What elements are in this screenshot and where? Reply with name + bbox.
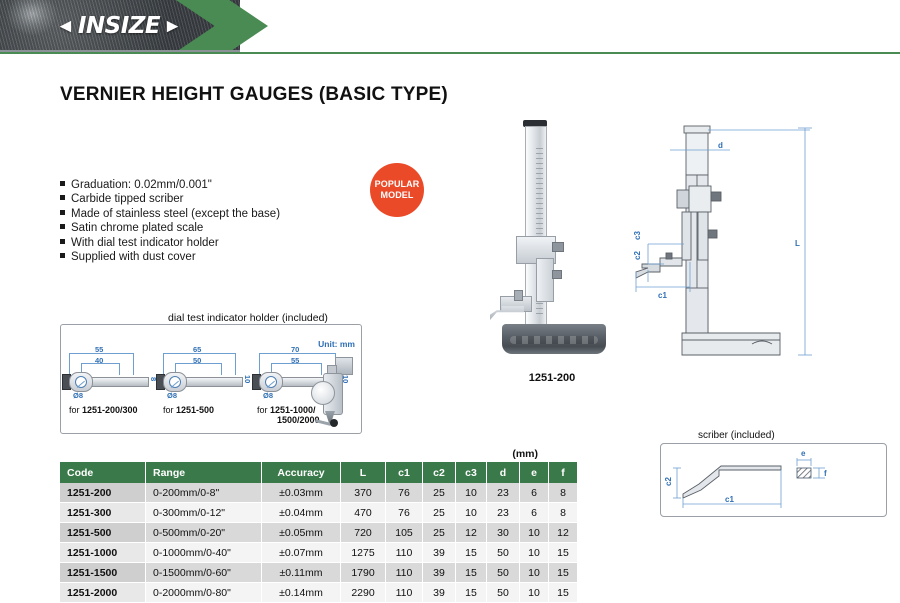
holder-variant-1: 55 40 Ø8 8 — [67, 351, 159, 401]
cell-l: 370 — [341, 483, 386, 503]
scriber-panel-caption: scriber (included) — [698, 430, 775, 441]
cell-range: 0-2000mm/0-80" — [146, 583, 262, 603]
cell-e: 6 — [520, 483, 549, 503]
cell-l: 2290 — [341, 583, 386, 603]
cell-accuracy: ±0.07mm — [262, 543, 341, 563]
cell-d: 23 — [487, 483, 520, 503]
list-item: With dial test indicator holder — [60, 236, 350, 250]
cell-l: 470 — [341, 503, 386, 523]
bullet-square-icon — [60, 239, 65, 244]
cell-c2: 25 — [423, 503, 456, 523]
logo-right-arrow-icon: ► — [163, 17, 182, 36]
column-header-d: d — [487, 462, 520, 483]
cell-c2: 39 — [423, 563, 456, 583]
table-row: 1251-1000 0-1000mm/0-40" ±0.07mm 1275 11… — [60, 543, 577, 563]
cell-c3: 15 — [456, 543, 487, 563]
holder-panel: Unit: mm 55 40 Ø8 8 for 1251-200/300 65 … — [60, 324, 362, 434]
cell-accuracy: ±0.11mm — [262, 563, 341, 583]
fine-adjust-knob — [552, 242, 564, 252]
vernier-scale — [536, 258, 554, 302]
holder-outer-dim: 55 — [95, 345, 103, 354]
dim-label-c1: c1 — [658, 291, 667, 300]
cell-e: 10 — [520, 563, 549, 583]
feature-text: With dial test indicator holder — [71, 237, 219, 249]
brand-logo: ◄ INSIZE ► — [44, 13, 194, 39]
cell-c1: 110 — [386, 563, 423, 583]
brand-name: INSIZE — [78, 13, 160, 39]
cell-f: 8 — [549, 503, 578, 523]
holder-variant-2-label: for 1251-500 — [163, 405, 214, 415]
list-item: Supplied with dust cover — [60, 250, 350, 264]
cell-code: 1251-500 — [60, 523, 146, 543]
cell-range: 0-1500mm/0-60" — [146, 563, 262, 583]
table-row: 1251-300 0-300mm/0-12" ±0.04mm 470 76 25… — [60, 503, 577, 523]
cell-c2: 25 — [423, 523, 456, 543]
line-drawing-svg: d L c1 c2 c3 — [620, 112, 890, 360]
table-header-row: Code Range Accuracy L c1 c2 c3 d e f — [60, 462, 577, 483]
cell-f: 8 — [549, 483, 578, 503]
for-codes: 1251-200/300 — [82, 405, 138, 415]
holder-assembly-photo — [313, 355, 353, 427]
dim-label-L: L — [795, 239, 800, 248]
scriber-panel: c2 c1 e f — [660, 443, 887, 517]
holder-bore-dim: Ø8 — [263, 391, 273, 400]
holder-photo-knob — [330, 419, 338, 427]
table-row: 1251-2000 0-2000mm/0-80" ±0.14mm 2290 11… — [60, 583, 577, 603]
cell-range: 0-300mm/0-12" — [146, 503, 262, 523]
cell-f: 15 — [549, 543, 578, 563]
product-photo — [492, 118, 612, 353]
scriber-dim-e: e — [801, 449, 806, 458]
logo-left-arrow-icon: ◄ — [56, 17, 75, 36]
cell-code: 1251-1000 — [60, 543, 146, 563]
holder-outer-dim: 70 — [291, 345, 299, 354]
cell-code: 1251-2000 — [60, 583, 146, 603]
dim-label-d: d — [718, 141, 723, 150]
cell-f: 12 — [549, 523, 578, 543]
column-header-accuracy: Accuracy — [262, 462, 341, 483]
bullet-square-icon — [60, 195, 65, 200]
cast-base — [502, 324, 606, 354]
holder-bore-dim: Ø8 — [73, 391, 83, 400]
list-item: Made of stainless steel (except the base… — [60, 207, 350, 221]
cell-l: 1275 — [341, 543, 386, 563]
column-header-c1: c1 — [386, 462, 423, 483]
popular-model-badge: POPULAR MODEL — [370, 163, 424, 217]
for-codes: 1251-1000/ — [270, 405, 316, 415]
cell-d: 50 — [487, 583, 520, 603]
page-title: VERNIER HEIGHT GAUGES (BASIC TYPE) — [60, 84, 448, 106]
column-header-range: Range — [146, 462, 262, 483]
cell-c2: 39 — [423, 543, 456, 563]
scriber-clamp-knob — [514, 290, 523, 301]
scriber-dim-c2: c2 — [664, 477, 673, 486]
specification-table: Code Range Accuracy L c1 c2 c3 d e f 125… — [60, 462, 577, 603]
scriber-dim-c1: c1 — [725, 495, 734, 504]
dim-label-c2: c2 — [633, 251, 642, 260]
bullet-square-icon — [60, 253, 65, 258]
clamp-screw — [552, 270, 562, 279]
page-header: ◄ INSIZE ► — [0, 0, 900, 56]
holder-inner-dim: 40 — [95, 356, 103, 365]
cell-e: 10 — [520, 523, 549, 543]
holder-variant-3-label: for 1251-1000/ 1500/2000 — [257, 405, 320, 425]
cell-code: 1251-300 — [60, 503, 146, 523]
column-header-f: f — [549, 462, 578, 483]
cell-range: 0-200mm/0-8" — [146, 483, 262, 503]
cell-c3: 15 — [456, 563, 487, 583]
cell-d: 23 — [487, 503, 520, 523]
list-item: Satin chrome plated scale — [60, 221, 350, 235]
cell-f: 15 — [549, 583, 578, 603]
for-prefix: for — [163, 405, 176, 415]
cell-d: 50 — [487, 563, 520, 583]
cell-c3: 15 — [456, 583, 487, 603]
column-header-l: L — [341, 462, 386, 483]
bullet-square-icon — [60, 210, 65, 215]
cell-accuracy: ±0.03mm — [262, 483, 341, 503]
cell-accuracy: ±0.14mm — [262, 583, 341, 603]
cell-e: 10 — [520, 543, 549, 563]
holder-variant-1-label: for 1251-200/300 — [69, 405, 138, 415]
column-header-e: e — [520, 462, 549, 483]
feature-list: Graduation: 0.02mm/0.001" Carbide tipped… — [60, 178, 350, 264]
bullet-square-icon — [60, 181, 65, 186]
table-row: 1251-500 0-500mm/0-20" ±0.05mm 720 105 2… — [60, 523, 577, 543]
cell-c1: 110 — [386, 583, 423, 603]
cell-c3: 10 — [456, 503, 487, 523]
feature-text: Graduation: 0.02mm/0.001" — [71, 179, 212, 191]
cell-c2: 39 — [423, 583, 456, 603]
for-codes: 1251-500 — [176, 405, 214, 415]
cell-c3: 12 — [456, 523, 487, 543]
dim-label-c3: c3 — [633, 231, 642, 240]
feature-text: Supplied with dust cover — [71, 251, 196, 263]
bullet-square-icon — [60, 224, 65, 229]
cell-e: 10 — [520, 583, 549, 603]
table-row: 1251-200 0-200mm/0-8" ±0.03mm 370 76 25 … — [60, 483, 577, 503]
holder-panel-caption: dial test indicator holder (included) — [168, 312, 328, 324]
cell-f: 15 — [549, 563, 578, 583]
cell-c1: 76 — [386, 483, 423, 503]
cell-c2: 25 — [423, 483, 456, 503]
cell-c1: 110 — [386, 543, 423, 563]
cell-e: 6 — [520, 503, 549, 523]
list-item: Graduation: 0.02mm/0.001" — [60, 178, 350, 192]
cell-c1: 105 — [386, 523, 423, 543]
table-row: 1251-1500 0-1500mm/0-60" ±0.11mm 1790 11… — [60, 563, 577, 583]
cell-accuracy: ±0.04mm — [262, 503, 341, 523]
scriber-drawing-svg: c2 c1 e f — [661, 444, 884, 514]
column-header-c2: c2 — [423, 462, 456, 483]
cell-l: 720 — [341, 523, 386, 543]
holder-thickness-dim: 10 — [243, 375, 252, 383]
holder-inner-dim: 50 — [193, 356, 201, 365]
cell-range: 0-500mm/0-20" — [146, 523, 262, 543]
cell-code: 1251-1500 — [60, 563, 146, 583]
scriber-blade — [490, 306, 524, 320]
cell-code: 1251-200 — [60, 483, 146, 503]
cell-l: 1790 — [341, 563, 386, 583]
holder-inner-dim: 55 — [291, 356, 299, 365]
list-item: Carbide tipped scriber — [60, 192, 350, 206]
feature-text: Made of stainless steel (except the base… — [71, 208, 280, 220]
feature-text: Carbide tipped scriber — [71, 193, 184, 205]
badge-line-2: MODEL — [381, 190, 414, 201]
badge-line-1: POPULAR — [375, 179, 420, 190]
for-prefix: for — [69, 405, 82, 415]
holder-unit-label: Unit: mm — [318, 339, 355, 349]
product-photo-caption: 1251-200 — [492, 372, 612, 384]
column-header-code: Code — [60, 462, 146, 483]
holder-variant-2: 65 50 Ø8 10 — [161, 351, 253, 401]
cell-range: 0-1000mm/0-40" — [146, 543, 262, 563]
cell-c3: 10 — [456, 483, 487, 503]
feature-text: Satin chrome plated scale — [71, 222, 203, 234]
cell-d: 50 — [487, 543, 520, 563]
cell-c1: 76 — [386, 503, 423, 523]
header-green-rule — [0, 52, 900, 54]
cell-accuracy: ±0.05mm — [262, 523, 341, 543]
cell-d: 30 — [487, 523, 520, 543]
table-unit-note: (mm) — [512, 448, 538, 460]
scriber-dim-f: f — [824, 469, 827, 478]
holder-bore-dim: Ø8 — [167, 391, 177, 400]
holder-photo-dial — [311, 381, 335, 405]
holder-outer-dim: 65 — [193, 345, 201, 354]
column-header-c3: c3 — [456, 462, 487, 483]
for-prefix: for — [257, 405, 270, 415]
technical-line-drawing: d L c1 c2 c3 — [620, 112, 890, 360]
